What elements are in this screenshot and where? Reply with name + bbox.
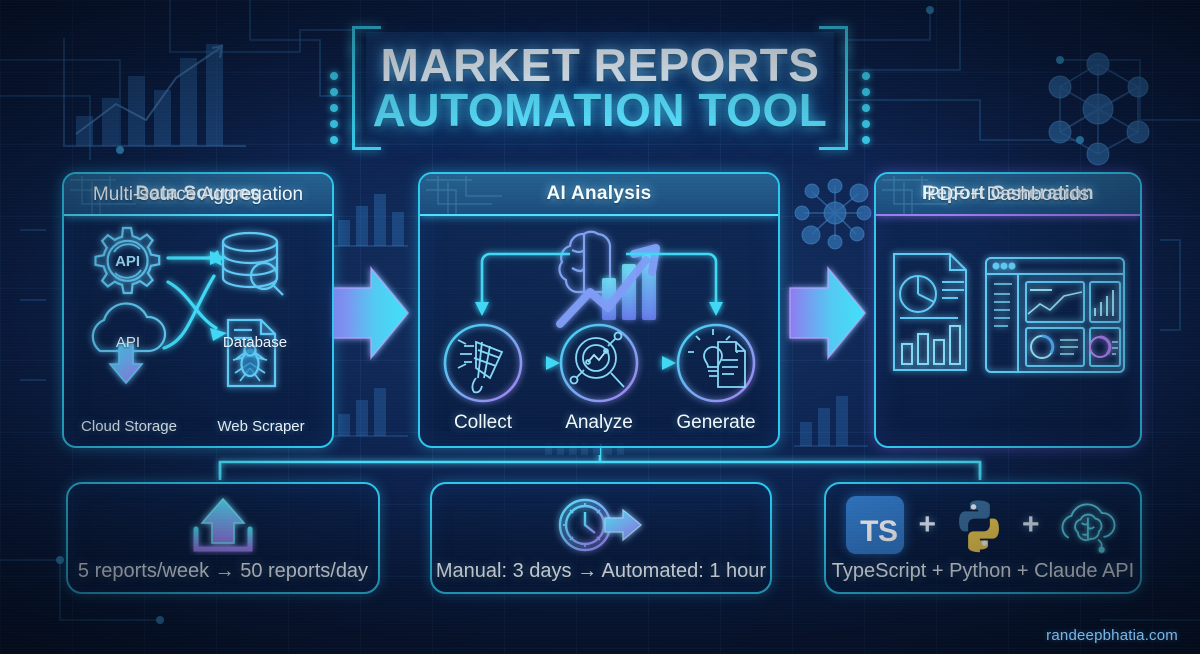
panel-data-sources[interactable]: Data Sources API <box>62 172 334 448</box>
page-title: MARKET REPORTS AUTOMATION TOOL <box>352 26 848 150</box>
node-label-collect: Collect <box>428 412 538 434</box>
title-line-2: AUTOMATION TOOL <box>373 88 828 133</box>
panel-header-ai-analysis: AI Analysis <box>420 174 778 216</box>
bar-chart-decoration-right <box>790 380 870 450</box>
watermark: randeepbhatia.com <box>1046 627 1178 644</box>
bar-chart-decoration-mid-left <box>330 180 410 250</box>
node-hub-decoration <box>790 168 880 258</box>
panel-footer-data-sources: Multi-source Aggregation <box>64 184 332 206</box>
icon-label-api: API <box>92 334 164 351</box>
database-search-icon <box>223 233 283 295</box>
lightbulb-document-icon <box>688 329 745 387</box>
icon-label-cloud-storage: Cloud Storage <box>70 418 188 435</box>
metric-card-throughput[interactable]: 5 reports/week → 50 reports/day <box>66 482 380 594</box>
metric-icon-row-turnaround <box>432 494 770 556</box>
panel-report-generation[interactable]: Report Generation <box>874 172 1142 448</box>
plus-sign-2: + <box>1022 508 1040 542</box>
panel-ai-analysis[interactable]: AI Analysis <box>418 172 780 448</box>
python-logo <box>950 496 1008 554</box>
pdf-report-icon <box>894 254 966 370</box>
flow-arrow-right <box>790 268 865 358</box>
panel-footer-report-generation: PDF + Dashboards <box>876 184 1140 206</box>
panel-title-ai-analysis: AI Analysis <box>546 183 651 205</box>
title-line-1: MARKET REPORTS <box>381 43 820 88</box>
header-circuit-decoration <box>422 174 502 214</box>
metric-text-throughput: 5 reports/week → 50 reports/day <box>68 560 378 583</box>
api-gear-label: API <box>115 253 140 270</box>
icon-label-database: Database <box>212 334 298 351</box>
node-label-generate: Generate <box>661 412 771 434</box>
typescript-logo: TS <box>846 496 904 554</box>
title-connector-dots-left <box>330 72 338 144</box>
clock-arrow-icon <box>553 494 649 556</box>
typescript-logo-label: TS <box>860 517 904 554</box>
infographic-canvas: MARKET REPORTS AUTOMATION TOOL <box>0 0 1200 654</box>
metric-card-tech-stack[interactable]: TS + + TypeScript + Python + Claude <box>824 482 1142 594</box>
claude-cloud-brain-logo <box>1054 496 1120 554</box>
metric-icon-row-throughput <box>68 494 378 556</box>
node-label-analyze: Analyze <box>544 412 654 434</box>
dashboard-window-icon <box>986 258 1124 372</box>
metric-icon-row-tech-stack: TS + + <box>826 494 1140 556</box>
flow-arrow-left <box>333 268 408 358</box>
title-connector-dots-right <box>862 72 870 144</box>
brain-growth-chart-icon <box>559 232 656 324</box>
metric-card-turnaround[interactable]: Manual: 3 days → Automated: 1 hour <box>430 482 772 594</box>
magnifier-chart-icon <box>571 333 625 388</box>
collect-net-icon <box>458 340 502 392</box>
icon-label-web-scraper: Web Scraper <box>202 418 320 435</box>
web-scraper-spider-icon <box>228 320 275 386</box>
bar-chart-decoration-left <box>50 28 250 158</box>
metric-text-turnaround: Manual: 3 days → Automated: 1 hour <box>432 560 770 583</box>
upload-arrow-icon <box>188 495 258 555</box>
metric-text-tech-stack: TypeScript + Python + Claude API <box>826 560 1140 583</box>
plus-sign-1: + <box>918 508 936 542</box>
network-graph-decoration <box>1020 32 1180 172</box>
bar-chart-decoration-low-left <box>330 370 410 440</box>
